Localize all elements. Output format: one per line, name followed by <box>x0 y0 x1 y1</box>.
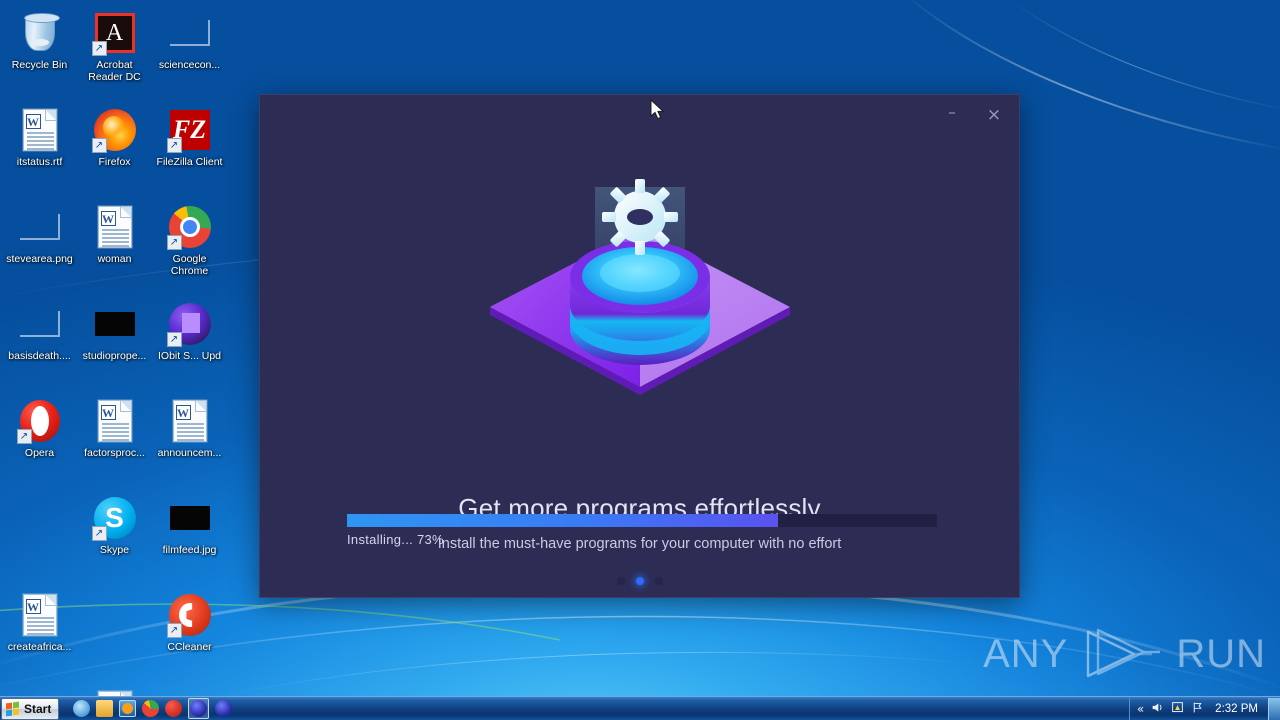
shortcut-overlay-icon <box>167 235 182 250</box>
desktop-icon-label: filmfeed.jpg <box>163 544 217 556</box>
desktop-icon-createafrica[interactable]: Wcreateafrica... <box>2 586 77 683</box>
anyrun-play-logo-icon <box>1074 626 1170 682</box>
desktop-icon-label: stevearea.png <box>6 253 73 265</box>
tray-expand-icon[interactable]: « <box>1137 703 1144 715</box>
desktop-icon-opera[interactable]: Opera <box>2 392 77 489</box>
carousel-dot-1[interactable] <box>617 577 625 585</box>
desktop-icon-filezilla-client[interactable]: FZFileZilla Client <box>152 101 227 198</box>
desktop-icon-label: Skype <box>100 544 129 556</box>
desktop-icon-label: FileZilla Client <box>157 156 223 168</box>
desktop-icon-label: CCleaner <box>167 641 211 653</box>
media-player-icon[interactable] <box>119 700 136 717</box>
installer-window-icon[interactable] <box>190 700 207 717</box>
isometric-gear-database-icon <box>470 177 810 427</box>
network-icon[interactable] <box>1191 701 1204 716</box>
desktop-icon-label: announcem... <box>158 447 222 459</box>
blank-file-icon <box>17 204 63 250</box>
desktop-icon-label: createafrica... <box>8 641 72 653</box>
installer-window-icon-2[interactable] <box>215 700 232 717</box>
desktop-icon-acrobat-reader-dc[interactable]: AAcrobat Reader DC <box>77 4 152 101</box>
desktop-icon-label: Opera <box>25 447 54 459</box>
blank-file-icon <box>17 301 63 347</box>
desktop-icon-label: basisdeath.... <box>8 350 70 362</box>
acrobat-reader-icon: A <box>92 10 138 56</box>
system-tray[interactable]: « 2:32 PM <box>1129 698 1266 720</box>
windows-logo-icon <box>6 702 20 716</box>
skype-icon: S <box>92 495 138 541</box>
desktop-icon-factorsproc[interactable]: Wfactorsproc... <box>77 392 152 489</box>
desktop-icon-google-chrome[interactable]: Google Chrome <box>152 198 227 295</box>
word-document-icon: W <box>17 592 63 638</box>
anyrun-watermark: ANY RUN <box>983 626 1266 682</box>
installer-window[interactable]: – × <box>259 94 1020 598</box>
watermark-run-text: RUN <box>1176 632 1266 677</box>
desktop-icon-woman[interactable]: Wwoman <box>77 198 152 295</box>
desktop-icon-studioprope[interactable]: studioprope... <box>77 295 152 392</box>
shortcut-overlay-icon <box>92 138 107 153</box>
shortcut-overlay-icon <box>167 138 182 153</box>
desktop-icon-iobit-s-upd[interactable]: IObit S... Upd <box>152 295 227 392</box>
start-button-label: Start <box>24 702 51 716</box>
desktop-icon-label: Firefox <box>98 156 130 168</box>
carousel-dot-3[interactable] <box>655 577 663 585</box>
desktop-icon-label: woman <box>98 253 132 265</box>
word-document-icon: W <box>167 398 213 444</box>
carousel-dot-2[interactable] <box>636 577 644 585</box>
installer-titlebar[interactable]: – × <box>260 95 1019 131</box>
word-document-icon: W <box>92 204 138 250</box>
desktop-icon-firefox[interactable]: Firefox <box>77 101 152 198</box>
shortcut-overlay-icon <box>167 623 182 638</box>
desktop-icon-empty <box>77 586 152 683</box>
desktop-icon-empty <box>2 489 77 586</box>
firefox-icon <box>92 107 138 153</box>
carousel-dots[interactable] <box>260 577 1019 585</box>
recycle-bin-icon <box>17 10 63 56</box>
opera-icon[interactable] <box>165 700 182 717</box>
desktop-icon-announcem[interactable]: Wannouncem... <box>152 392 227 489</box>
watermark-any-text: ANY <box>983 632 1068 677</box>
progress-status-text: Installing... 73% <box>347 532 444 547</box>
filezilla-icon: FZ <box>167 107 213 153</box>
black-image-icon <box>167 495 213 541</box>
desktop-icon-itstatus-rtf[interactable]: Witstatus.rtf <box>2 101 77 198</box>
black-image-icon <box>92 301 138 347</box>
desktop-icon-label: sciencecon... <box>159 59 220 71</box>
desktop-icon-label: Recycle Bin <box>12 59 67 71</box>
minimize-button[interactable]: – <box>939 105 965 125</box>
desktop-icon-stevearea-png[interactable]: stevearea.png <box>2 198 77 295</box>
quick-launch-bar[interactable] <box>73 698 232 719</box>
windows-explorer-icon[interactable] <box>96 700 113 717</box>
desktop-icon-basisdeath[interactable]: basisdeath.... <box>2 295 77 392</box>
desktop-icon-ccleaner[interactable]: CCleaner <box>152 586 227 683</box>
shortcut-overlay-icon <box>17 429 32 444</box>
installer-illustration <box>260 147 1019 457</box>
progress-fill <box>347 514 778 527</box>
start-button[interactable]: Start <box>1 698 59 720</box>
desktop-icon-label: studioprope... <box>83 350 147 362</box>
blank-file-icon <box>167 10 213 56</box>
shortcut-overlay-icon <box>92 526 107 541</box>
installer-taskbar-button[interactable] <box>188 698 209 719</box>
desktop-icon-label: IObit S... Upd <box>158 350 221 362</box>
taskbar[interactable]: Start « 2:32 PM <box>0 696 1280 720</box>
desktop-icon-label: factorsproc... <box>84 447 145 459</box>
internet-explorer-icon[interactable] <box>73 700 90 717</box>
desktop-icon-sciencecon[interactable]: sciencecon... <box>152 4 227 101</box>
word-document-icon: W <box>92 398 138 444</box>
iobit-icon <box>167 301 213 347</box>
action-center-icon[interactable] <box>1171 701 1184 716</box>
ccleaner-icon <box>167 592 213 638</box>
desktop-icon-label: itstatus.rtf <box>17 156 63 168</box>
desktop-icon-recycle-bin[interactable]: Recycle Bin <box>2 4 77 101</box>
desktop-icon-skype[interactable]: SSkype <box>77 489 152 586</box>
desktop-icon-label: Google Chrome <box>153 253 226 277</box>
opera-icon <box>17 398 63 444</box>
show-desktop-button[interactable] <box>1268 698 1280 720</box>
word-document-icon: W <box>17 107 63 153</box>
volume-icon[interactable] <box>1151 701 1164 716</box>
desktop-icon-filmfeed-jpg[interactable]: filmfeed.jpg <box>152 489 227 586</box>
close-button[interactable]: × <box>981 105 1007 125</box>
chrome-icon <box>167 204 213 250</box>
progress-bar <box>347 514 937 527</box>
desktop[interactable]: Recycle BinAAcrobat Reader DCsciencecon.… <box>0 0 1280 720</box>
shortcut-overlay-icon <box>92 41 107 56</box>
shortcut-overlay-icon <box>167 332 182 347</box>
desktop-icon-label: Acrobat Reader DC <box>78 59 151 83</box>
desktop-icon-grid[interactable]: Recycle BinAAcrobat Reader DCsciencecon.… <box>0 4 260 684</box>
taskbar-clock[interactable]: 2:32 PM <box>1211 703 1262 715</box>
chrome-icon[interactable] <box>142 700 159 717</box>
